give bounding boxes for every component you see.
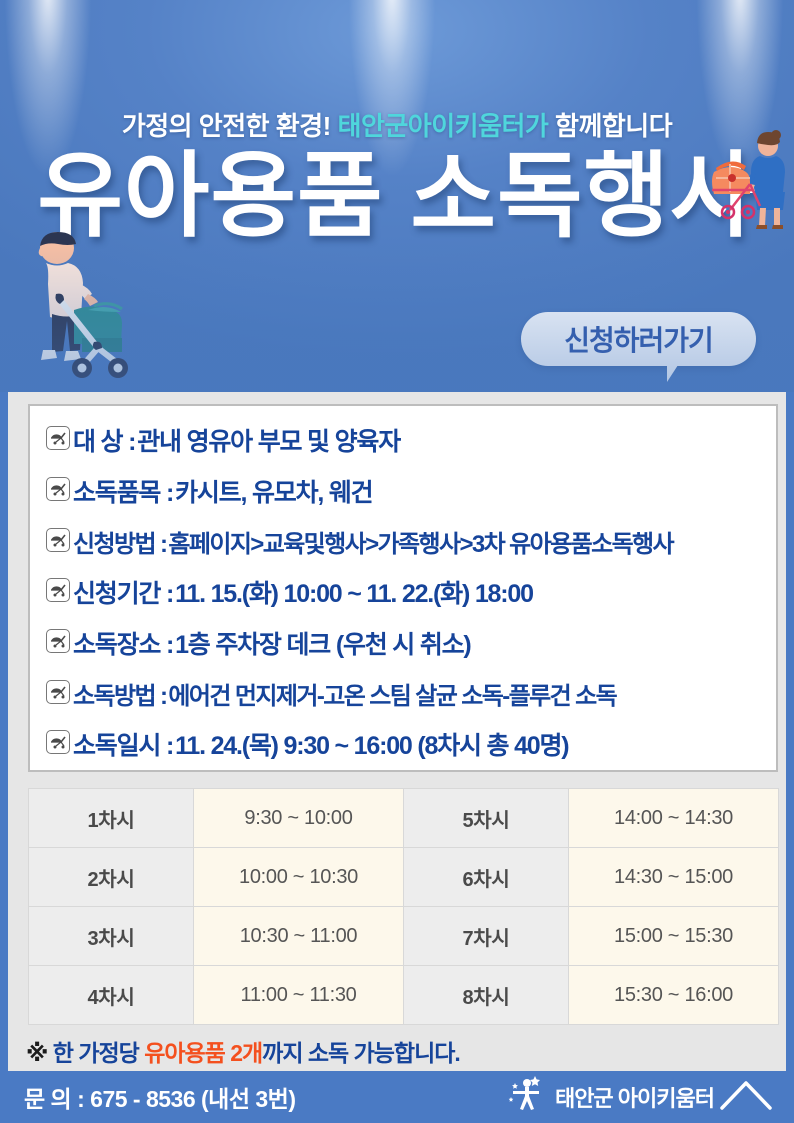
info-value: 11. 15.(화) 10:00 ~ 11. 22.(화) 18:00 xyxy=(175,574,533,610)
table-row: 3차시 10:30 ~ 11:00 7차시 15:00 ~ 15:30 xyxy=(29,907,779,966)
contact-info: 문 의 : 675 - 8536 (내선 3번) xyxy=(24,1080,296,1114)
session-label: 7차시 xyxy=(404,907,569,966)
info-value: 관내 영유아 부모 및 양육자 xyxy=(137,422,400,458)
content-area: 대 상 : 관내 영유아 부모 및 양육자 xyxy=(0,392,794,1031)
apply-button-label: 신청하러가기 xyxy=(564,319,713,359)
info-value: 11. 24.(목) 9:30 ~ 16:00 (8차시 총 40명) xyxy=(175,726,568,762)
stroller-icon xyxy=(46,477,70,501)
session-label: 6차시 xyxy=(404,848,569,907)
info-value: 1층 주차장 데크 (우천 시 취소) xyxy=(175,625,470,661)
info-row-place: 소독장소 : 1층 주차장 데크 (우천 시 취소) xyxy=(46,625,764,661)
asterisk-mark-icon: ※ xyxy=(26,1040,47,1066)
info-label: 소독품목 : xyxy=(73,473,173,509)
house-roof-icon xyxy=(720,1078,772,1117)
session-time: 11:00 ~ 11:30 xyxy=(194,966,404,1025)
info-label: 신청방법 : xyxy=(73,524,166,559)
info-label: 소독일시 : xyxy=(73,726,173,762)
notice-text: ※ 한 가정당 유아용품 2개까지 소독 가능합니다. xyxy=(26,1034,460,1068)
notice-highlight: 유아용품 2개 xyxy=(144,1040,262,1066)
info-row-apply-period: 신청기간 : 11. 15.(화) 10:00 ~ 11. 22.(화) 18:… xyxy=(46,574,764,610)
table-row: 2차시 10:00 ~ 10:30 6차시 14:30 ~ 15:00 xyxy=(29,848,779,907)
stroller-icon xyxy=(46,680,70,704)
session-time: 10:00 ~ 10:30 xyxy=(194,848,404,907)
logo-text: 태안군 아이키움터 xyxy=(555,1081,714,1113)
info-row-apply-method: 신청방법 : 홈페이지>교육및행사>가족행사>3차 유아용품소독행사 xyxy=(46,524,764,559)
table-row: 1차시 9:30 ~ 10:00 5차시 14:00 ~ 14:30 xyxy=(29,789,779,848)
session-time: 15:00 ~ 15:30 xyxy=(569,907,779,966)
session-label: 3차시 xyxy=(29,907,194,966)
table-row: 4차시 11:00 ~ 11:30 8차시 15:30 ~ 16:00 xyxy=(29,966,779,1025)
hero-banner: 가정의 안전한 환경! 태안군아이키움터가 함께합니다 유아용품 소독행사 xyxy=(0,0,794,392)
subtitle-part-1: 가정의 안전한 환경! xyxy=(122,111,331,141)
info-label: 대 상 : xyxy=(73,422,135,458)
info-list: 대 상 : 관내 영유아 부모 및 양육자 xyxy=(30,406,776,762)
session-time: 14:30 ~ 15:00 xyxy=(569,848,779,907)
subtitle-accent: 태안군아이키움터가 xyxy=(338,111,549,141)
session-time: 14:00 ~ 14:30 xyxy=(569,789,779,848)
schedule-table: 1차시 9:30 ~ 10:00 5차시 14:00 ~ 14:30 2차시 1… xyxy=(28,788,779,1025)
dad-with-stroller-illustration xyxy=(2,228,132,392)
info-row-target: 대 상 : 관내 영유아 부모 및 양육자 xyxy=(46,422,764,458)
session-label: 1차시 xyxy=(29,789,194,848)
info-value: 카시트, 유모차, 웨건 xyxy=(175,473,372,509)
stroller-icon xyxy=(46,730,70,754)
stroller-icon xyxy=(46,528,70,552)
subtitle-part-2: 함께합니다 xyxy=(555,111,672,141)
apply-button[interactable]: 신청하러가기 xyxy=(521,312,756,366)
session-label: 8차시 xyxy=(404,966,569,1025)
stroller-icon xyxy=(46,578,70,602)
organization-logo: 태안군 아이키움터 xyxy=(505,1075,772,1120)
mom-with-pram-illustration xyxy=(706,128,792,241)
stroller-icon xyxy=(46,629,70,653)
stroller-icon xyxy=(46,426,70,450)
session-label: 4차시 xyxy=(29,966,194,1025)
notice-part-1: 한 가정당 xyxy=(53,1040,139,1066)
apply-button-wrapper[interactable]: 신청하러가기 xyxy=(521,312,756,366)
info-row-datetime: 소독일시 : 11. 24.(목) 9:30 ~ 16:00 (8차시 총 40… xyxy=(46,726,764,762)
notice-part-2: 까지 소독 가능합니다. xyxy=(262,1040,460,1066)
speech-bubble-tail xyxy=(667,362,690,382)
session-label: 5차시 xyxy=(404,789,569,848)
notice-strip: ※ 한 가정당 유아용품 2개까지 소독 가능합니다. xyxy=(0,1031,794,1071)
info-value: 홈페이지>교육및행사>가족행사>3차 유아용품소독행사 xyxy=(168,524,673,559)
session-label: 2차시 xyxy=(29,848,194,907)
star-person-icon xyxy=(505,1075,549,1120)
footer-bar: 문 의 : 675 - 8536 (내선 3번) 태안군 아이키움터 xyxy=(0,1071,794,1123)
info-value: 에어건 먼지제거-고온 스팀 살균 소독-플루건 소독 xyxy=(168,676,616,711)
info-row-method: 소독방법 : 에어건 먼지제거-고온 스팀 살균 소독-플루건 소독 xyxy=(46,676,764,711)
info-label: 소독장소 : xyxy=(73,625,173,661)
session-time: 15:30 ~ 16:00 xyxy=(569,966,779,1025)
poster-root: 가정의 안전한 환경! 태안군아이키움터가 함께합니다 유아용품 소독행사 xyxy=(0,0,794,1123)
info-label: 소독방법 : xyxy=(73,676,166,711)
session-time: 9:30 ~ 10:00 xyxy=(194,789,404,848)
info-box: 대 상 : 관내 영유아 부모 및 양육자 xyxy=(28,404,778,772)
poster-subtitle: 가정의 안전한 환경! 태안군아이키움터가 함께합니다 xyxy=(0,106,794,143)
info-label: 신청기간 : xyxy=(73,574,173,610)
session-time: 10:30 ~ 11:00 xyxy=(194,907,404,966)
info-row-items: 소독품목 : 카시트, 유모차, 웨건 xyxy=(46,473,764,509)
